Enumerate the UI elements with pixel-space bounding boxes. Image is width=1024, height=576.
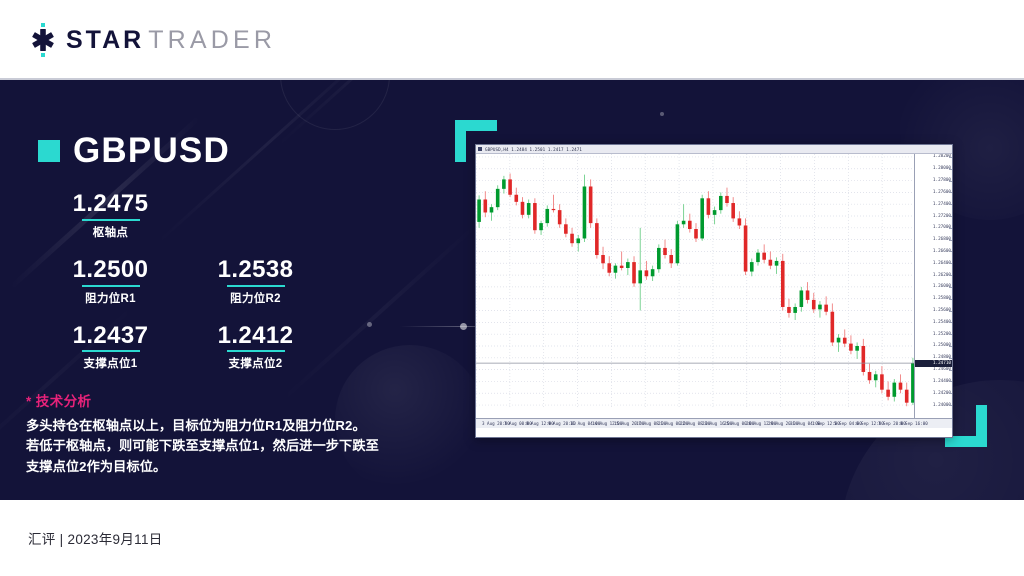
footer-caption: 汇评 | 2023年9月11日 bbox=[28, 528, 163, 548]
price-axis-tick bbox=[949, 405, 952, 406]
s1-value: 1.2437 bbox=[38, 322, 183, 350]
price-axis[interactable]: 1.282001.280001.278001.276001.274001.272… bbox=[914, 154, 952, 428]
brand-logo[interactable]: STAR TRADER bbox=[28, 23, 276, 57]
pivot-cell-r2: 1.2538 阻力位R2 bbox=[183, 256, 328, 308]
page-title: GBPUSD bbox=[73, 133, 230, 168]
price-axis-tick bbox=[949, 157, 952, 158]
price-axis-tick bbox=[949, 287, 952, 288]
price-axis-tick bbox=[949, 381, 952, 382]
price-axis-tick bbox=[949, 311, 952, 312]
pivot-spacer-2 bbox=[38, 308, 328, 322]
price-axis-tick bbox=[949, 240, 952, 241]
chart-body: 1.282001.280001.278001.276001.274001.272… bbox=[476, 154, 952, 428]
analysis-line-1: 多头持仓在枢轴点以上，目标位为阻力位R1及阻力位R2。 bbox=[26, 416, 426, 436]
pivot-cell-s1: 1.2437 支撑点位1 bbox=[38, 322, 183, 374]
price-axis-tick bbox=[949, 334, 952, 335]
price-axis-tick bbox=[949, 299, 952, 300]
pivot-value: 1.2475 bbox=[38, 190, 183, 218]
price-axis-tick bbox=[949, 346, 952, 347]
time-axis-label: 8 Sep 16:00 bbox=[900, 421, 928, 426]
r1-underline bbox=[82, 285, 140, 287]
decor-circle-1 bbox=[280, 80, 390, 130]
current-price-tag: 1.24710 bbox=[915, 360, 952, 367]
main-dark-panel: GBPUSD 1.2475 枢轴点 1.2500 阻力位R1 1.2538 bbox=[0, 80, 1024, 500]
r1-label: 阻力位R1 bbox=[38, 290, 183, 306]
brand-name-primary: STAR bbox=[66, 26, 144, 55]
pivot-row-center: 1.2475 枢轴点 bbox=[38, 190, 328, 242]
price-axis-tick bbox=[949, 251, 952, 252]
window-icon bbox=[478, 147, 482, 151]
brand-name-secondary: TRADER bbox=[148, 26, 276, 55]
instrument-marker-square bbox=[38, 140, 60, 162]
pivot-cell-r1: 1.2500 阻力位R1 bbox=[38, 256, 183, 308]
price-axis-tick bbox=[949, 370, 952, 371]
instrument-title-row: GBPUSD bbox=[38, 133, 230, 168]
s2-label: 支撑点位2 bbox=[183, 355, 328, 371]
pivot-spacer-1 bbox=[38, 242, 328, 256]
slide-root: STAR TRADER GBPUSD bbox=[0, 0, 1024, 576]
pivot-cell-pivot: 1.2475 枢轴点 bbox=[38, 190, 183, 242]
analysis-line-3: 支撑点位2作为目标位。 bbox=[26, 457, 426, 477]
chart-titlebar-text: GBPUSD,H4 1.2484 1.2501 1.2417 1.2471 bbox=[485, 147, 582, 152]
price-axis-tick bbox=[949, 169, 952, 170]
pivot-levels: 1.2475 枢轴点 1.2500 阻力位R1 1.2538 阻力位R2 bbox=[38, 190, 328, 373]
price-axis-tick bbox=[949, 216, 952, 217]
r2-value: 1.2538 bbox=[183, 256, 328, 284]
pivot-underline bbox=[82, 219, 140, 221]
candlestick-plot[interactable] bbox=[476, 154, 914, 428]
s1-label: 支撑点位1 bbox=[38, 355, 183, 371]
pivot-row-support: 1.2437 支撑点位1 1.2412 支撑点位2 bbox=[38, 322, 328, 374]
pivot-label: 枢轴点 bbox=[38, 224, 183, 240]
chart-titlebar: GBPUSD,H4 1.2484 1.2501 1.2417 1.2471 bbox=[476, 145, 952, 154]
chart-window[interactable]: GBPUSD,H4 1.2484 1.2501 1.2417 1.2471 1.… bbox=[475, 144, 953, 438]
price-axis-tick bbox=[949, 204, 952, 205]
time-axis[interactable]: 3 Aug 20:007 Aug 00:008 Aug 12:009 Aug 2… bbox=[476, 418, 952, 428]
price-axis-tick bbox=[949, 192, 952, 193]
asterisk-star-icon bbox=[28, 23, 58, 57]
page-footer: 汇评 | 2023年9月11日 bbox=[0, 500, 1024, 576]
page-header: STAR TRADER bbox=[0, 0, 1024, 80]
technical-analysis-block: * 技术分析 多头持仓在枢轴点以上，目标位为阻力位R1及阻力位R2。 若低于枢轴… bbox=[26, 390, 426, 477]
decor-dot-1 bbox=[367, 322, 372, 327]
price-axis-tick bbox=[949, 322, 952, 323]
analysis-line-2: 若低于枢轴点，则可能下跌至支撑点位1，然后进一步下跌至 bbox=[26, 436, 426, 456]
pivot-row-resistance: 1.2500 阻力位R1 1.2538 阻力位R2 bbox=[38, 256, 328, 308]
s2-underline bbox=[227, 350, 285, 352]
price-axis-tick bbox=[949, 263, 952, 264]
analysis-title: * 技术分析 bbox=[26, 390, 426, 410]
decor-dot-3 bbox=[660, 112, 664, 116]
r2-label: 阻力位R2 bbox=[183, 290, 328, 306]
r1-value: 1.2500 bbox=[38, 256, 183, 284]
s2-value: 1.2412 bbox=[183, 322, 328, 350]
price-axis-tick bbox=[949, 393, 952, 394]
r2-underline bbox=[227, 285, 285, 287]
price-axis-tick bbox=[949, 275, 952, 276]
price-axis-tick bbox=[949, 228, 952, 229]
price-axis-tick bbox=[949, 181, 952, 182]
pivot-cell-s2: 1.2412 支撑点位2 bbox=[183, 322, 328, 374]
s1-underline bbox=[82, 350, 140, 352]
candlestick-svg bbox=[476, 154, 914, 418]
